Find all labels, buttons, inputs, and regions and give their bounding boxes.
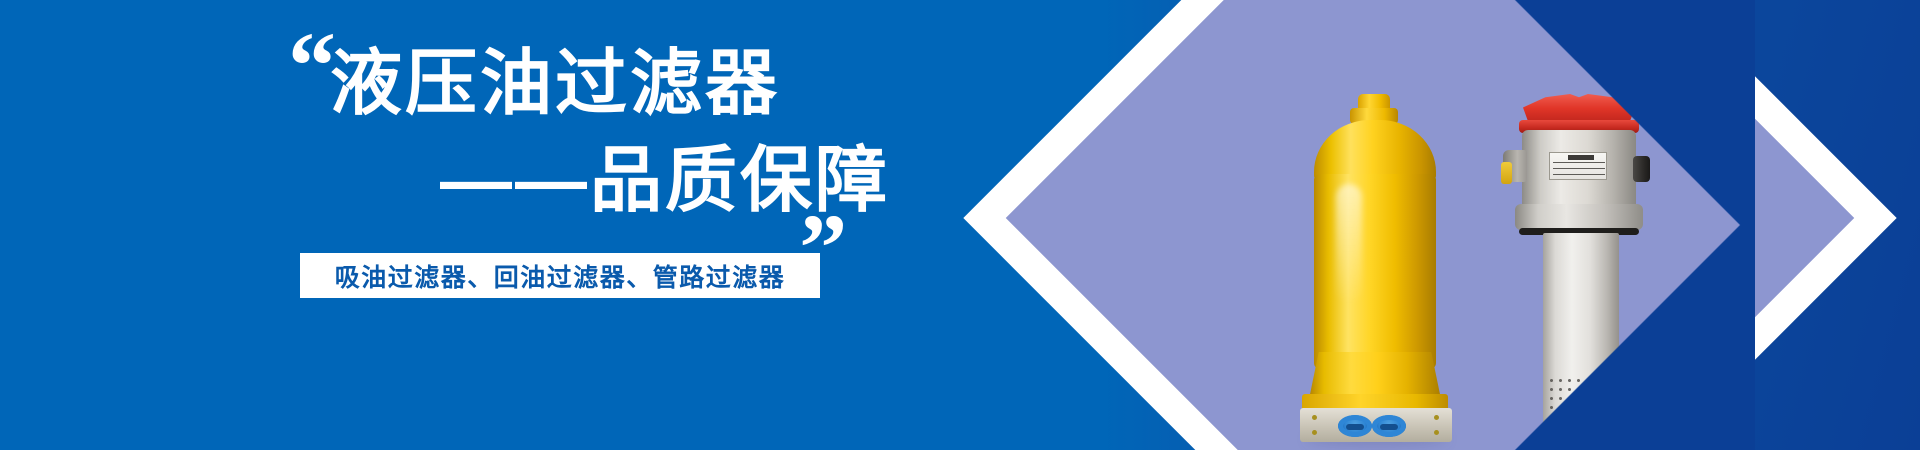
headline-line-1: 液压油过滤器 xyxy=(330,46,890,124)
yellow-filter-mount-plate xyxy=(1300,408,1452,442)
yellow-filter-bolt xyxy=(1434,415,1439,420)
product-photo-plate xyxy=(1255,0,1755,450)
product-image-yellow-suction-filter xyxy=(1300,94,1460,444)
headline-text-block: “ 液压油过滤器 ——品质保障 „ 吸油过滤器、回油过滤器、管路过滤器 xyxy=(0,0,1080,450)
yellow-filter-bolt xyxy=(1312,415,1317,420)
yellow-filter-shoulder xyxy=(1314,120,1436,182)
yellow-filter-bolt xyxy=(1434,430,1439,435)
plate-corner-blue-bottom-right xyxy=(1495,190,1755,450)
yellow-filter-body xyxy=(1314,174,1436,369)
yellow-filter-port-1 xyxy=(1338,415,1372,437)
subtitle-text: 吸油过滤器、回油过滤器、管路过滤器 xyxy=(335,258,786,294)
subtitle-banner: 吸油过滤器、回油过滤器、管路过滤器 xyxy=(300,253,820,298)
yellow-filter-bolt xyxy=(1312,430,1317,435)
promo-banner: “ 液压油过滤器 ——品质保障 „ 吸油过滤器、回油过滤器、管路过滤器 xyxy=(0,0,1920,450)
close-quote-mark: „ xyxy=(800,150,846,246)
yellow-filter-port-2 xyxy=(1372,415,1406,437)
open-quote-mark: “ xyxy=(288,18,334,114)
